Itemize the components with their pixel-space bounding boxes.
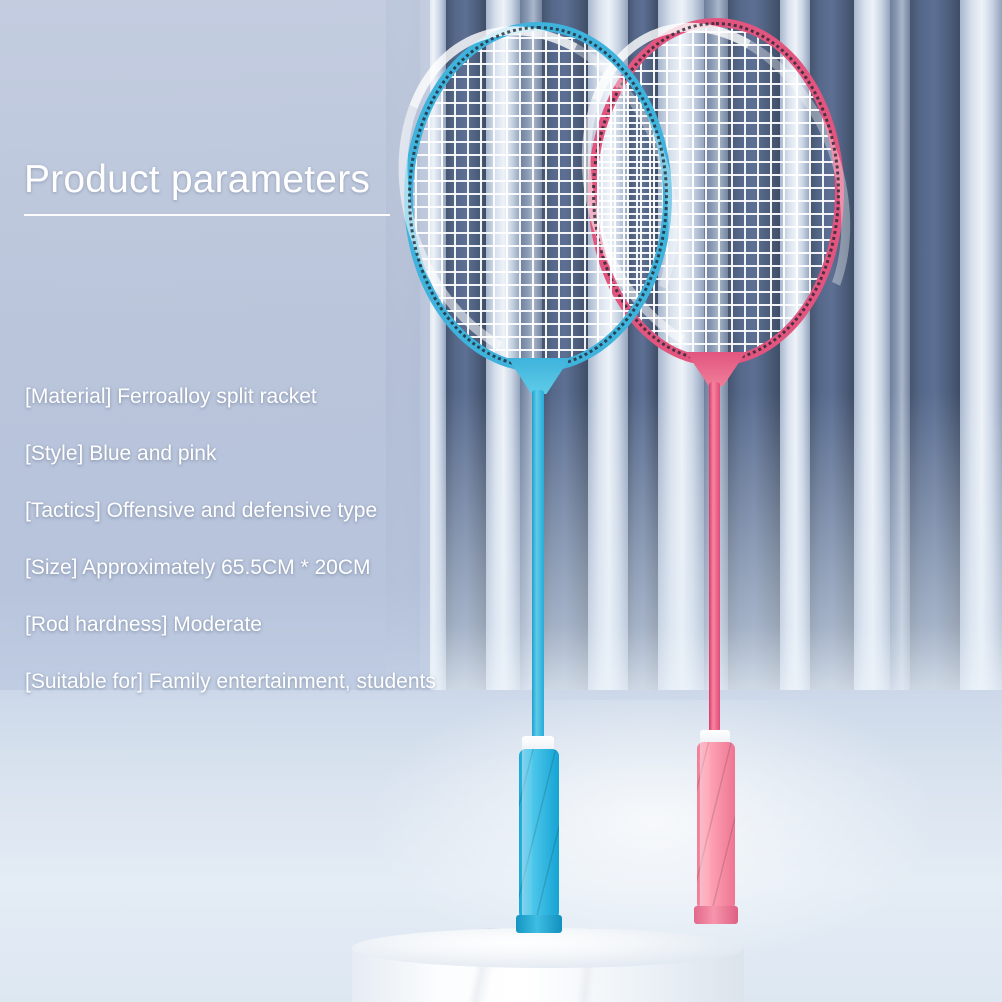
spec-line-suitable-for: [Suitable for] Family entertainment, stu… (25, 653, 645, 710)
pink-racket-shaft (709, 382, 720, 732)
pink-shaft-branding (710, 430, 720, 434)
spec-line-style: [Style] Blue and pink (25, 425, 645, 482)
page-title: Product parameters (24, 158, 370, 202)
blue-racket-head (404, 22, 672, 372)
spec-list: [Material] Ferroalloy split racket [Styl… (25, 368, 645, 710)
spec-line-tactics: [Tactics] Offensive and defensive type (25, 482, 645, 539)
product-parameters-banner: Product parameters [Material] Ferroalloy… (0, 0, 1002, 1002)
blue-racket-grip (519, 749, 559, 921)
blue-racket-grommets (408, 26, 668, 368)
spec-line-rod-hardness: [Rod hardness] Moderate (25, 596, 645, 653)
pink-racket-butt-cap (694, 906, 738, 924)
spec-line-material: [Material] Ferroalloy split racket (25, 368, 645, 425)
pink-racket-grip (697, 742, 735, 912)
blue-racket-butt-cap (516, 915, 562, 933)
title-underline (24, 214, 390, 216)
spec-line-size: [Size] Approximately 65.5CM * 20CM (25, 539, 645, 596)
marble-pedestal (352, 928, 744, 1002)
